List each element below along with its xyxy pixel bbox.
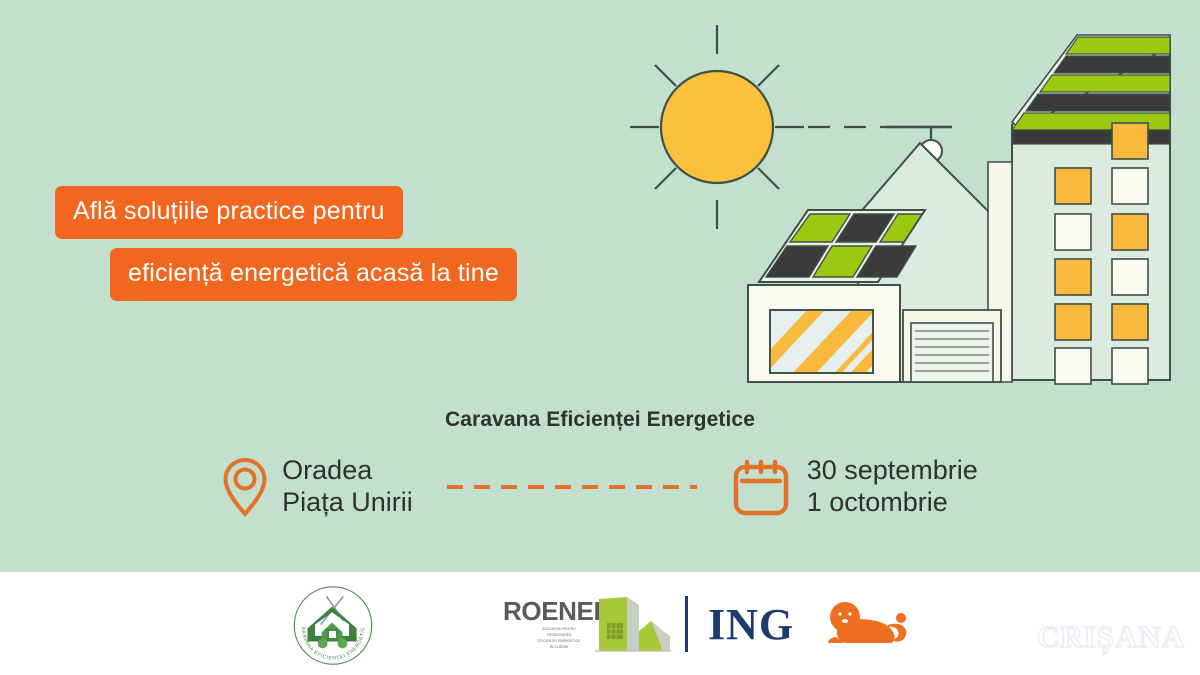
headline-block: Află soluțiile practice pentru eficiență… bbox=[0, 186, 620, 301]
calendar-icon bbox=[731, 457, 791, 517]
ing-wordmark: ING bbox=[708, 600, 794, 649]
crisana-watermark-text: CRIȘANA bbox=[1037, 619, 1185, 655]
roenef-logo: ROENEF ASOCIAȚIA PENTRU PROMOVAREA EFICI… bbox=[503, 595, 673, 653]
dashed-connector bbox=[447, 485, 697, 489]
event-location-venue: Piața Unirii bbox=[282, 487, 413, 519]
event-dates: 30 septembrie 1 octombrie bbox=[807, 455, 978, 518]
crisana-watermark: CRIȘANA bbox=[1036, 617, 1186, 657]
event-location: Oradea Piața Unirii bbox=[282, 455, 413, 518]
event-location-city: Oradea bbox=[282, 455, 413, 487]
event-title: Caravana Eficienței Energetice bbox=[0, 408, 1200, 432]
event-date-1: 30 septembrie bbox=[807, 455, 978, 487]
event-details-row: Oradea Piața Unirii 30 septembrie 1 octo… bbox=[0, 455, 1200, 518]
ing-lion-icon bbox=[828, 602, 906, 643]
caravana-eficientei-energetice-logo: CARAVANA EFICIENȚEI ENERGETICE bbox=[288, 583, 378, 668]
roenef-tagline-2: PROMOVAREA bbox=[547, 633, 572, 637]
roenef-building-icon bbox=[595, 597, 671, 651]
roenef-tagline-3: EFICIENȚEI ENERGETICE bbox=[538, 639, 582, 643]
roenef-wordmark: ROENEF bbox=[503, 596, 609, 626]
poster-canvas: Află soluțiile practice pentru eficiență… bbox=[0, 0, 1200, 675]
illustration-svg bbox=[600, 10, 1200, 410]
sun-icon bbox=[661, 71, 773, 183]
map-pin-icon bbox=[222, 456, 268, 518]
event-date-2: 1 octombrie bbox=[807, 487, 978, 519]
ing-logo: ING bbox=[708, 597, 918, 652]
headline-line-2: eficiență energetică acasă la tine bbox=[110, 248, 517, 301]
garage-door-icon bbox=[903, 310, 1001, 382]
footer-divider bbox=[685, 596, 688, 652]
house-with-solar-panels-icon bbox=[748, 210, 925, 392]
headline-line-1: Află soluțiile practice pentru bbox=[55, 186, 403, 239]
roenef-tagline-4: ÎN CLĂDIRI bbox=[549, 645, 568, 649]
energy-illustration bbox=[600, 10, 1200, 410]
roenef-tagline-1: ASOCIAȚIA PENTRU bbox=[542, 627, 576, 631]
apartment-block-icon bbox=[1012, 35, 1170, 384]
